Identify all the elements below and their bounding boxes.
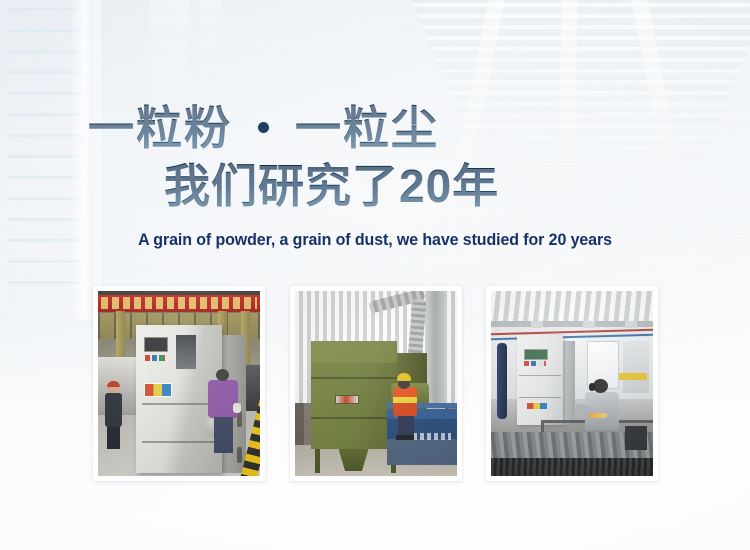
ceiling-lamp [583,321,595,328]
worker-head [593,379,608,393]
worker-torso [105,393,122,427]
support-leg [315,449,320,473]
panel-seam [519,397,561,398]
worker-legs [214,417,233,453]
panel-seam [311,377,397,379]
headline-line-1: 一粒粉一粒尘 [0,100,750,156]
roof-panels [491,291,653,325]
yellow-wall-sign [619,373,647,380]
worker-glove [233,403,241,413]
collector-top-section [311,341,397,363]
panel-seam [519,375,561,376]
worker-boots [396,435,414,440]
promotional-banner: 一粒粉一粒尘 我们研究了20年 A grain of powder, a gra… [0,0,750,550]
worker-legs [107,427,120,449]
worker-on-lift [393,373,419,435]
suction-hose [497,343,507,419]
worker-cap [107,381,120,387]
factory-floor-photo [98,291,260,476]
worker-right [208,369,238,453]
photo-card[interactable] [93,286,265,481]
safety-vest [393,387,417,417]
headline-part-powder: 一粒粉 [88,102,232,154]
door-seam [142,403,216,405]
banner-text-glyphs [101,297,257,309]
green-collector-photo [295,291,457,476]
brand-label [144,383,172,397]
work-spark-glow [589,413,607,418]
workshop-stool [625,426,647,450]
cabinet-side-panel [563,341,575,425]
photo-card[interactable] [486,286,658,481]
headline-line-2: 我们研究了20年 [0,158,750,214]
dust-collector-cabinet [517,335,563,425]
control-buttons [524,361,546,366]
control-display [144,337,168,352]
nameplate [335,395,359,404]
panel-seam [311,417,397,419]
safety-helmet [397,373,411,381]
seated-worker [585,379,619,437]
control-display [524,349,548,360]
ceiling-lamp [531,321,543,328]
worker-left [104,383,124,449]
photo-gallery [93,286,658,481]
inverter-module [176,335,196,369]
separator-dot-icon [258,122,269,133]
worker-head [216,369,229,381]
headline-part-dust: 一粒尘 [295,102,439,154]
headline-block: 一粒粉一粒尘 我们研究了20年 A grain of powder, a gra… [0,100,750,250]
photo-card[interactable] [290,286,462,481]
steel-tube-stock-foreground [491,458,653,476]
workshop-photo [491,291,653,476]
ceiling-lamp [625,321,637,328]
worker-ear-protection [589,383,595,391]
control-buttons [145,355,165,361]
workshop-door [623,341,649,393]
headline-subtitle-english: A grain of powder, a grain of dust, we h… [23,230,728,250]
brand-label [527,403,547,409]
door-seam [142,441,216,443]
